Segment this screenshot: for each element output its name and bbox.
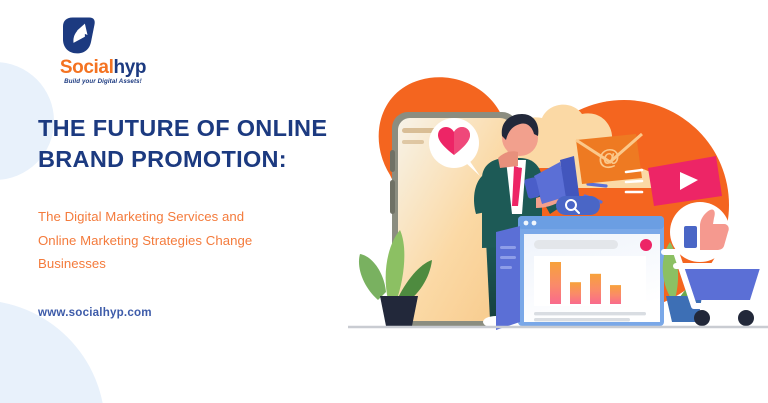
bar-1 xyxy=(550,262,561,304)
brand-tagline: Build your Digital Assets! xyxy=(38,78,168,85)
arrow-badge-icon xyxy=(56,14,98,56)
brand-name-part1: Social xyxy=(60,57,114,78)
subheading-line-2: Online Marketing Strategies Change xyxy=(38,229,348,253)
illustration-canvas: @ xyxy=(330,0,768,403)
bar-2 xyxy=(570,282,581,304)
email-envelope-icon[interactable]: @ xyxy=(576,134,642,184)
brand-wordmark: Socialhyp xyxy=(38,58,168,77)
headline-line-1: THE FUTURE OF ONLINE xyxy=(38,113,358,144)
search-pill-icon[interactable] xyxy=(556,196,600,215)
website-url[interactable]: www.socialhyp.com xyxy=(38,306,152,319)
headline: THE FUTURE OF ONLINE BRAND PROMOTION: xyxy=(38,113,358,176)
subheading-line-3: Businesses xyxy=(38,252,348,276)
bar-3 xyxy=(590,274,601,304)
svg-text:@: @ xyxy=(598,145,619,170)
browser-window[interactable] xyxy=(518,216,664,326)
brand-name-part2: hyp xyxy=(113,57,146,78)
notification-dot xyxy=(640,239,652,251)
illustration: @ xyxy=(330,0,768,403)
headline-line-2: BRAND PROMOTION: xyxy=(38,144,358,175)
marketing-banner: Socialhyp Build your Digital Assets! THE… xyxy=(0,0,768,403)
bar-4 xyxy=(610,285,621,304)
brand-logo[interactable]: Socialhyp Build your Digital Assets! xyxy=(38,14,168,85)
subheading-line-1: The Digital Marketing Services and xyxy=(38,205,348,229)
sidebar-panel xyxy=(496,226,520,330)
subheading: The Digital Marketing Services and Onlin… xyxy=(38,205,348,276)
